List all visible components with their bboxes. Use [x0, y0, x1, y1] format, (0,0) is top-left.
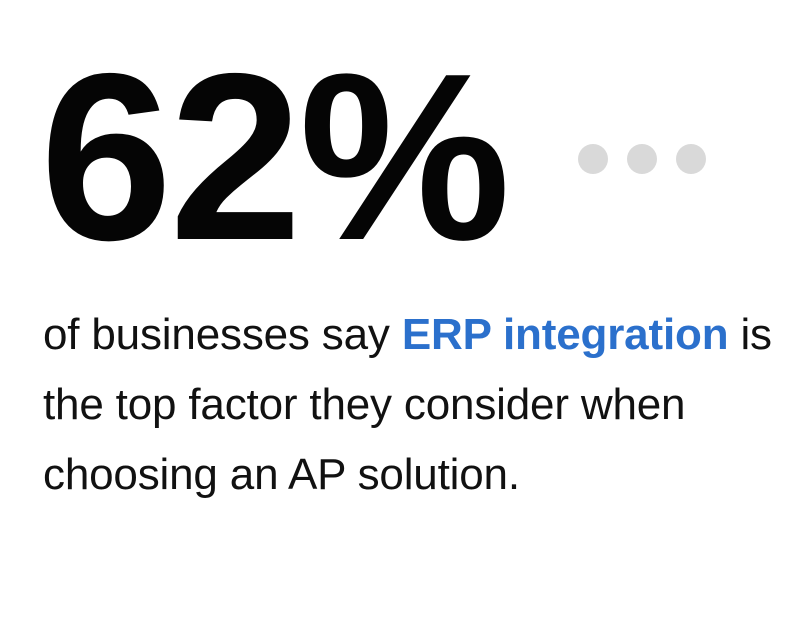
dot-3-icon [676, 144, 706, 174]
caption-highlight-erp-integration: ERP integration [402, 310, 729, 359]
statistic-card: 62% of businesses say ERP integration is… [0, 0, 791, 617]
statistic-caption: of businesses say ERP integration is the… [43, 300, 773, 510]
dot-2-icon [627, 144, 657, 174]
figure-row: 62% [0, 0, 791, 278]
dot-1-icon [578, 144, 608, 174]
caption-segment-leading: of businesses say [43, 310, 402, 359]
statistic-figure: 62% [40, 73, 508, 243]
three-dots-decoration-icon [578, 144, 706, 174]
